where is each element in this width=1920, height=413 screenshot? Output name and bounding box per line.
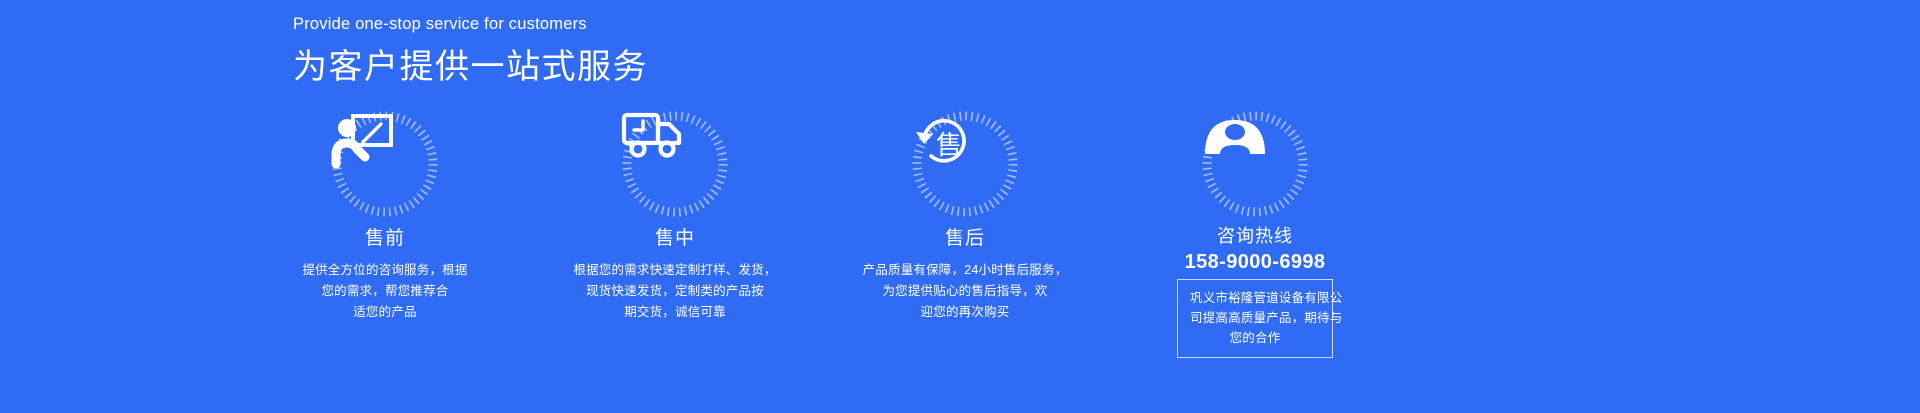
contact-title: 咨询热线	[1217, 226, 1293, 248]
service-description: 产品质量有保障，24小时售后服务， 为您提供贴心的售后指导，欢 迎您的再次购买	[863, 260, 1068, 323]
company-info-line: 司提高高质量产品，期待与	[1190, 308, 1320, 328]
desc-line: 迎您的再次购买	[863, 302, 1068, 323]
icon-ring: 售	[911, 110, 1019, 218]
service-title: 售中	[655, 228, 695, 251]
after-sales-char: 售	[936, 130, 962, 160]
desc-line: 您的需求，帮您推荐合	[302, 281, 467, 302]
delivery-truck-clock-icon	[621, 110, 729, 218]
service-title: 售前	[365, 228, 405, 251]
icon-ring	[1201, 110, 1309, 218]
icon-ring	[621, 110, 729, 218]
heading-chinese: 为客户提供一站式服务	[293, 46, 648, 89]
service-column-aftersales[interactable]: 售 售后 产品质量有保障，24小时售后服务， 为您提供贴心的售后指导，欢 迎您的…	[820, 110, 1110, 358]
telephone-icon	[1201, 110, 1309, 218]
service-description: 提供全方位的咨询服务，根据 您的需求，帮您推荐合 适您的产品	[302, 260, 467, 323]
desc-line: 根据您的需求快速定制打样、发货，	[573, 260, 776, 281]
service-columns: 售前 提供全方位的咨询服务，根据 您的需求，帮您推荐合 适您的产品	[240, 110, 1400, 358]
desc-line: 适您的产品	[302, 302, 467, 323]
icon-ring	[331, 110, 439, 218]
desc-line: 为您提供贴心的售后指导，欢	[863, 281, 1068, 302]
presenter-whiteboard-icon	[331, 110, 439, 218]
service-column-presales[interactable]: 售前 提供全方位的咨询服务，根据 您的需求，帮您推荐合 适您的产品	[240, 110, 530, 358]
banner-heading: Provide one-stop service for customers 为…	[293, 14, 648, 89]
service-banner: Provide one-stop service for customers 为…	[0, 0, 1920, 413]
heading-english: Provide one-stop service for customers	[293, 14, 648, 35]
after-sales-refresh-icon: 售	[911, 110, 1019, 218]
desc-line: 期交货，诚信可靠	[573, 302, 776, 323]
desc-line: 产品质量有保障，24小时售后服务，	[863, 260, 1068, 281]
contact-column[interactable]: 咨询热线 158-9000-6998 巩义市裕隆管道设备有限公 司提高高质量产品…	[1110, 110, 1400, 358]
desc-line: 现货快速发货，定制类的产品按	[573, 281, 776, 302]
company-info-line: 您的合作	[1190, 328, 1320, 348]
contact-phone-number[interactable]: 158-9000-6998	[1185, 251, 1326, 274]
company-info-box: 巩义市裕隆管道设备有限公 司提高高质量产品，期待与 您的合作	[1177, 279, 1333, 358]
service-column-insales[interactable]: 售中 根据您的需求快速定制打样、发货， 现货快速发货，定制类的产品按 期交货，诚…	[530, 110, 820, 358]
service-description: 根据您的需求快速定制打样、发货， 现货快速发货，定制类的产品按 期交货，诚信可靠	[573, 260, 776, 323]
service-title: 售后	[945, 228, 985, 251]
company-info-line: 巩义市裕隆管道设备有限公	[1190, 288, 1320, 308]
desc-line: 提供全方位的咨询服务，根据	[302, 260, 467, 281]
